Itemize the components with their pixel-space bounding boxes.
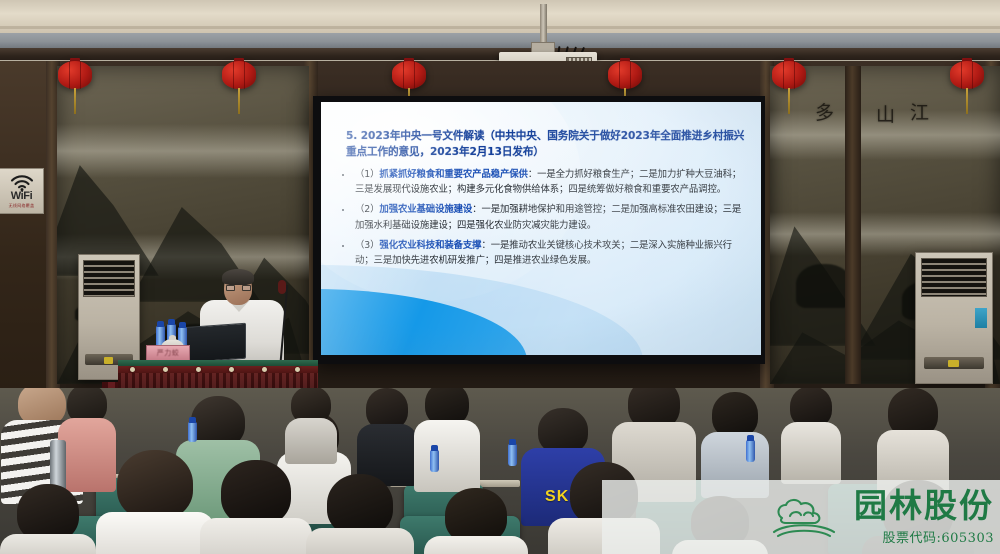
microphone-head [278, 280, 286, 294]
water-bottle[interactable] [746, 440, 755, 462]
water-bottle[interactable] [188, 422, 197, 442]
mural-divider [845, 66, 861, 384]
mural-calligraphy-char-jiang: 江 [910, 104, 929, 123]
slide-bullet-1: （1）抓紧抓好粮食和重要农产品稳产保供：一是全力抓好粮食生产；二是加力扩种大豆油… [337, 167, 749, 197]
mural-calligraphy-char-shan: 山 [876, 106, 895, 125]
watermark-stock-code: 股票代码:605303 [882, 527, 994, 546]
water-bottle[interactable] [430, 450, 439, 472]
slide-title: 5. 2023年中央一号文件解读（中共中央、国务院关于做好2023年全面推进乡村… [337, 128, 749, 161]
speaker-glasses [226, 285, 251, 291]
bullet-1-heading: 抓紧抓好粮食和重要农产品稳产保供 [379, 169, 527, 180]
ceiling-seam [0, 26, 1000, 29]
audience-member [780, 388, 842, 482]
audience-member [424, 488, 528, 554]
speaker-hair [222, 269, 254, 285]
audience-member [200, 460, 312, 554]
watermark-overlay: 园林股份 股票代码:605303 [602, 480, 1000, 554]
wifi-sign-sublabel: 无线网络覆盖 [9, 203, 35, 209]
brand-logo-icon [768, 492, 844, 542]
slide-bullet-2: （2）加强农业基础设施建设：一是加强耕地保护和用途管控；二是加强高标准农田建设；… [337, 202, 749, 232]
bullet-1-number: （1） [355, 169, 379, 180]
audience-member [96, 450, 214, 554]
bullet-3-heading: 强化农业科技和装备支撑 [379, 240, 481, 251]
name-placard: 严力蛟 [146, 345, 190, 361]
audience-member [414, 388, 480, 490]
audience-member [0, 484, 96, 554]
audience-member [356, 388, 418, 484]
wifi-sign: WiFi 无线网络覆盖 [0, 168, 44, 214]
slide-bullet-3: （3）强化农业科技和装备支撑：一是推动农业关键核心技术攻关；二是深入实施种业振兴… [337, 238, 749, 268]
bullet-2-heading: 加强农业基础设施建设 [379, 204, 472, 215]
wifi-icon [9, 173, 35, 191]
audience-member [284, 388, 338, 460]
watermark-brand: 园林股份 [854, 489, 994, 522]
mural-calligraphy-char-duo: 多 [815, 104, 834, 123]
air-conditioner-right[interactable] [915, 252, 993, 384]
name-placard-text: 严力蛟 [157, 348, 180, 358]
projection-screen[interactable]: 5. 2023年中央一号文件解读（中共中央、国务院关于做好2023年全面推进乡村… [321, 102, 761, 355]
bullet-2-number: （2） [355, 204, 379, 215]
slide-bullet-list: （1）抓紧抓好粮食和重要农产品稳产保供：一是全力抓好粮食生产；二是加力扩种大豆油… [337, 167, 749, 268]
presentation-photo-scene: 多 山 江 WiFi 无线网络覆盖 [0, 0, 1000, 554]
ceiling-soffit [0, 33, 1000, 49]
water-bottle[interactable] [508, 444, 517, 466]
presenter-laptop[interactable] [182, 323, 246, 363]
wifi-sign-label: WiFi [11, 190, 33, 202]
bullet-3-number: （3） [355, 240, 379, 251]
slide-content: 5. 2023年中央一号文件解读（中共中央、国务院关于做好2023年全面推进乡村… [321, 102, 761, 355]
audience-member [306, 474, 414, 554]
projector-mount-pole [540, 4, 547, 44]
